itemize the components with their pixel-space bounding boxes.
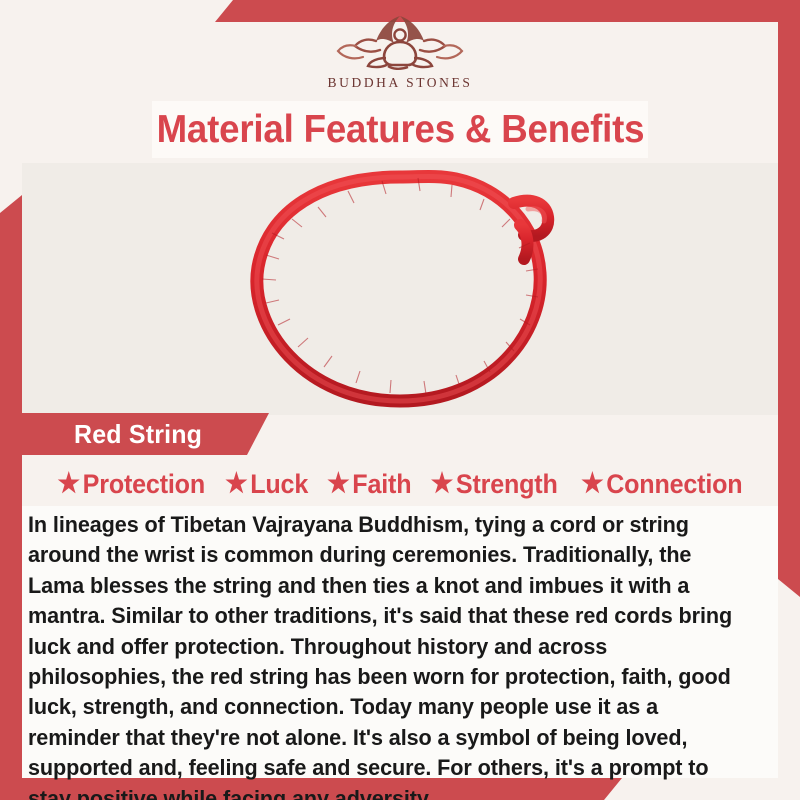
title-banner: Material Features & Benefits (152, 101, 648, 158)
benefit-label: Luck (251, 469, 309, 500)
star-icon: ★ (226, 470, 248, 497)
frame-left-accent (0, 195, 22, 778)
benefit-item-strength: ★ Strength (427, 469, 561, 500)
star-icon: ★ (327, 470, 349, 497)
lotus-meditation-icon (330, 8, 470, 74)
page-title: Material Features & Benefits (156, 108, 644, 152)
benefit-label: Protection (83, 469, 205, 500)
benefit-item-faith: ★ Faith (323, 469, 415, 500)
benefit-item-connection: ★ Connection (577, 469, 746, 500)
material-name-label: Red String (74, 419, 202, 450)
description-text: In lineages of Tibetan Vajrayana Buddhis… (28, 510, 746, 800)
brand-logo: BUDDHA STONES (0, 8, 800, 102)
benefit-label: Strength (456, 469, 558, 500)
benefit-item-protection: ★ Protection (54, 469, 209, 500)
benefit-item-luck: ★ Luck (222, 469, 312, 500)
infographic-poster: BUDDHA STONES Material Features & Benefi… (0, 0, 800, 800)
frame-right-accent (778, 22, 800, 597)
star-icon: ★ (581, 470, 603, 497)
description-panel: In lineages of Tibetan Vajrayana Buddhis… (22, 506, 778, 778)
brand-wordmark: BUDDHA STONES (328, 75, 473, 91)
red-string-bracelet-illustration (22, 163, 778, 415)
star-icon: ★ (57, 470, 79, 497)
material-name-ribbon: Red String (22, 413, 269, 455)
benefit-label: Faith (352, 469, 411, 500)
benefit-label: Connection (606, 469, 742, 500)
star-icon: ★ (431, 470, 453, 497)
benefits-list: ★ Protection ★ Luck ★ Faith ★ Strength ★… (22, 463, 778, 506)
product-photo (22, 163, 778, 415)
